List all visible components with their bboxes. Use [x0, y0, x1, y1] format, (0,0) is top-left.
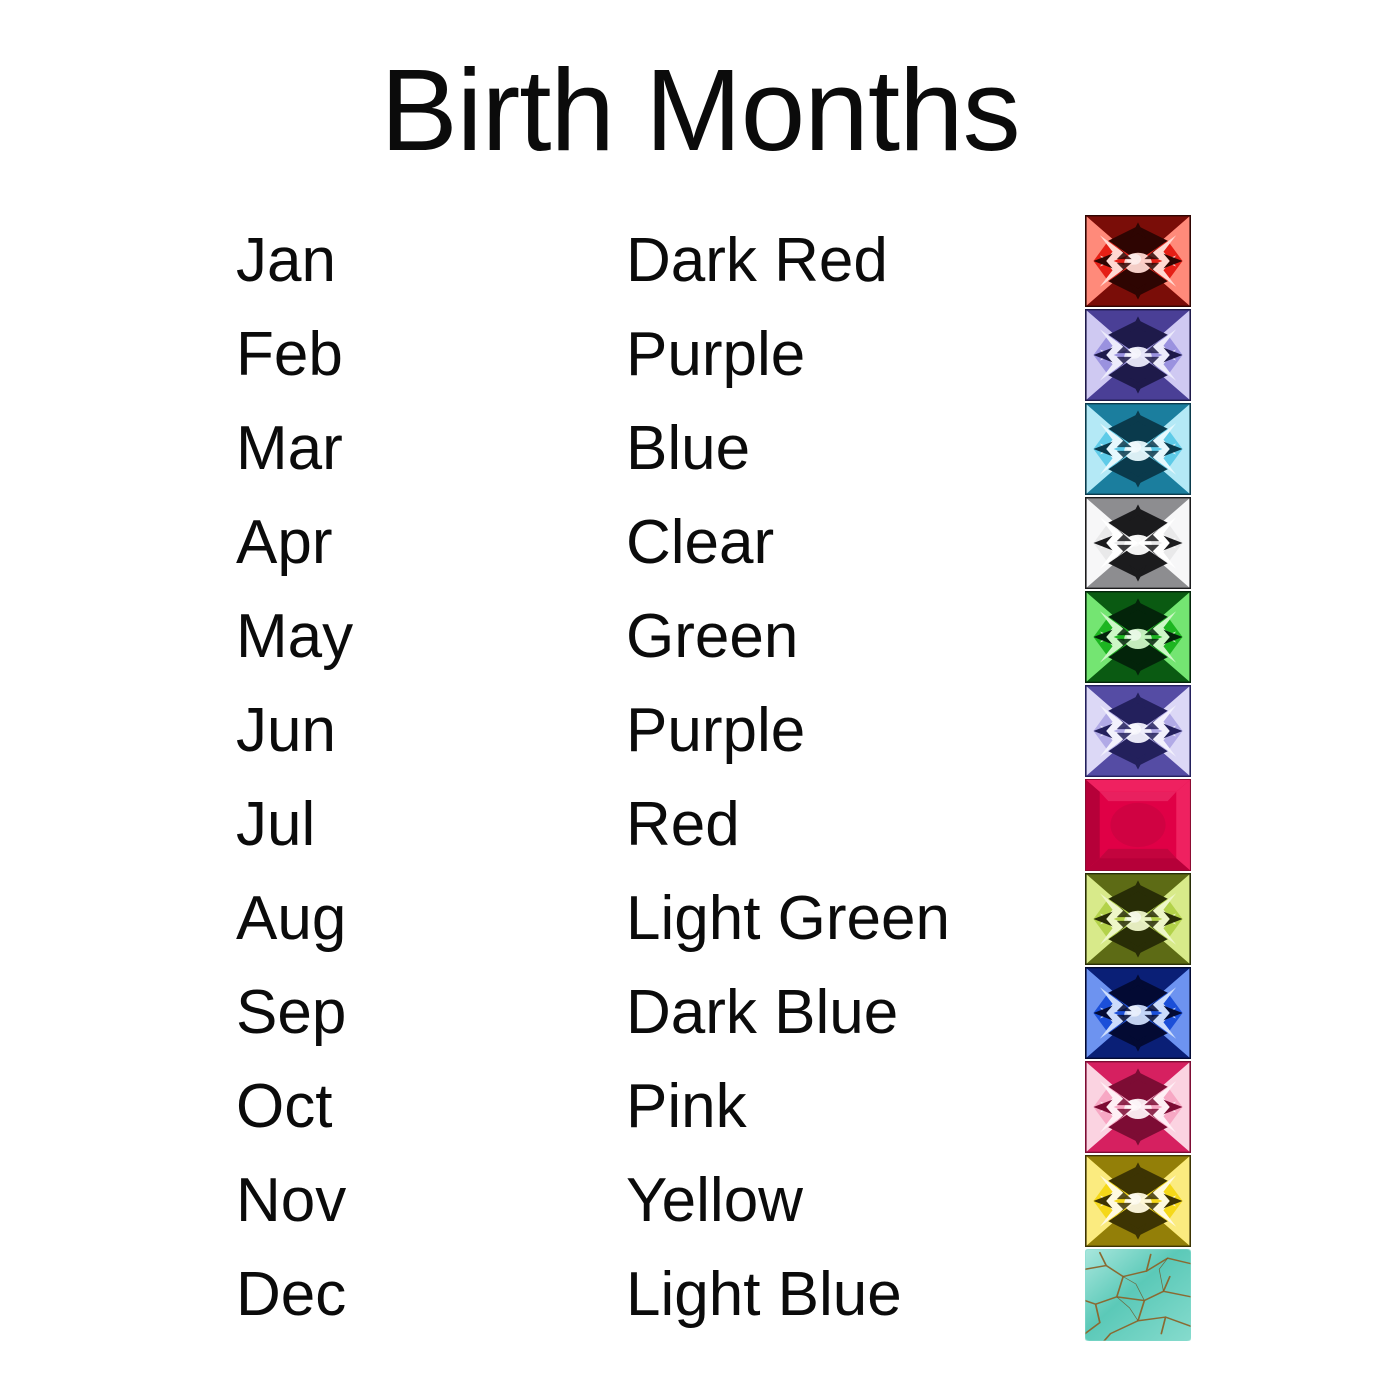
birth-months-table: JanDark Red FebPurple [0, 214, 1400, 1342]
page-title: Birth Months [0, 52, 1400, 168]
ruby-gem-icon [1085, 779, 1191, 871]
gem-cell [1085, 872, 1193, 966]
table-row: FebPurple [0, 308, 1400, 402]
emerald-gem-icon [1085, 591, 1191, 683]
gem-cell [1085, 966, 1193, 1060]
table-row: DecLight Blue [0, 1248, 1400, 1342]
month-label: Jan [236, 214, 336, 308]
month-label: Nov [236, 1154, 346, 1248]
color-label: Blue [626, 402, 750, 496]
month-label: Aug [236, 872, 346, 966]
gem-cell [1085, 1248, 1193, 1342]
color-label: Pink [626, 1060, 747, 1154]
amethyst-gem-icon [1085, 309, 1191, 401]
color-label: Purple [626, 684, 805, 778]
table-row: JulRed [0, 778, 1400, 872]
table-row: JunPurple [0, 684, 1400, 778]
month-label: Mar [236, 402, 343, 496]
table-row: JanDark Red [0, 214, 1400, 308]
month-label: Dec [236, 1248, 346, 1342]
table-row: MarBlue [0, 402, 1400, 496]
gem-cell [1085, 402, 1193, 496]
month-label: Feb [236, 308, 343, 402]
color-label: Dark Blue [626, 966, 898, 1060]
turquoise-gem-icon [1085, 1249, 1191, 1341]
garnet-gem-icon [1085, 215, 1191, 307]
table-row: MayGreen [0, 590, 1400, 684]
month-label: Oct [236, 1060, 332, 1154]
tourmaline-gem-icon [1085, 1061, 1191, 1153]
gem-cell [1085, 496, 1193, 590]
gem-cell [1085, 1154, 1193, 1248]
month-label: Jun [236, 684, 336, 778]
month-label: Sep [236, 966, 346, 1060]
color-label: Clear [626, 496, 774, 590]
table-row: AprClear [0, 496, 1400, 590]
sapphire-gem-icon [1085, 967, 1191, 1059]
aquamarine-gem-icon [1085, 403, 1191, 495]
color-label: Dark Red [626, 214, 888, 308]
color-label: Light Green [626, 872, 950, 966]
gem-cell [1085, 684, 1193, 778]
color-label: Yellow [626, 1154, 803, 1248]
month-label: Apr [236, 496, 332, 590]
gem-cell [1085, 308, 1193, 402]
month-label: May [236, 590, 353, 684]
table-row: SepDark Blue [0, 966, 1400, 1060]
table-row: NovYellow [0, 1154, 1400, 1248]
peridot-gem-icon [1085, 873, 1191, 965]
gem-cell [1085, 1060, 1193, 1154]
table-row: OctPink [0, 1060, 1400, 1154]
color-label: Green [626, 590, 798, 684]
gem-cell [1085, 590, 1193, 684]
gem-cell [1085, 214, 1193, 308]
diamond-gem-icon [1085, 497, 1191, 589]
alexandrite-gem-icon [1085, 685, 1191, 777]
topaz-gem-icon [1085, 1155, 1191, 1247]
color-label: Purple [626, 308, 805, 402]
birth-months-page: Birth Months JanDark Red FebP [0, 0, 1400, 1400]
table-row: AugLight Green [0, 872, 1400, 966]
color-label: Red [626, 778, 740, 872]
month-label: Jul [236, 778, 315, 872]
gem-cell [1085, 778, 1193, 872]
color-label: Light Blue [626, 1248, 902, 1342]
